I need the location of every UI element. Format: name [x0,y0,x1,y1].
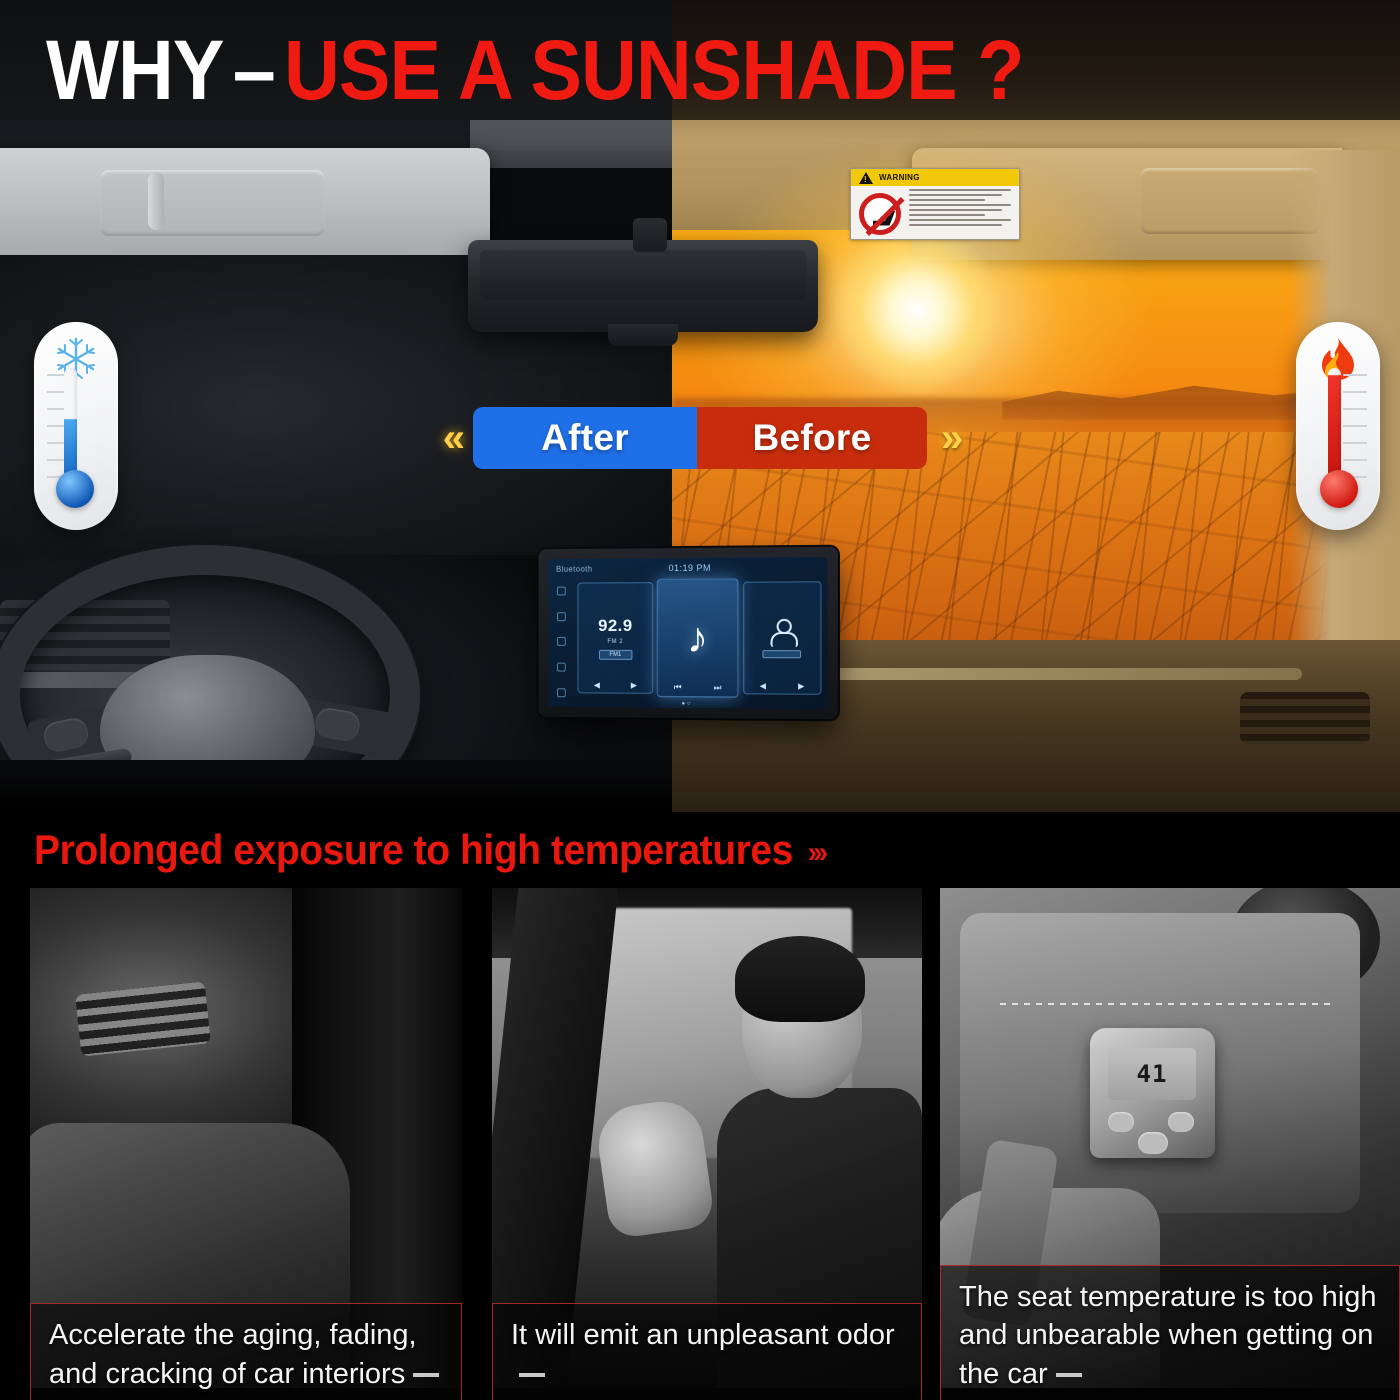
ir-thermometer-gun: 41 [1090,1028,1215,1158]
infotainment-side-rail[interactable] [548,579,573,706]
phone-next-icon[interactable]: ▶ [798,682,804,691]
cold-thermometer-bulb [56,470,94,508]
after-visor-rail [148,172,164,230]
before-dash-vent [1240,692,1370,744]
mid-headline-band: Prolonged exposure to high temperatures›… [0,812,1400,888]
panel3-seat-stitching [1000,1003,1330,1005]
bluetooth-label: Bluetooth [556,564,592,573]
caption-dash-icon [519,1373,545,1377]
panel2-hair [735,936,865,1022]
page-title: WHY–USE A SUNSHADE ? [46,28,1024,112]
sun-disc [832,225,1002,395]
child-seat-glyph [873,210,895,226]
warning-triangle-icon [859,172,873,184]
infotainment-head-unit[interactable]: Bluetooth 01:19 PM 92.9 FM 2 FM1 [539,547,838,720]
caption-dash-icon [1056,1373,1082,1377]
radio-next-icon[interactable]: ▶ [631,681,637,690]
chevron-left-icon: « [443,418,459,458]
prohibition-circle-icon [859,193,901,235]
home-icon[interactable] [557,612,566,621]
hot-thermometer-bulb [1320,470,1358,508]
title-band: WHY–USE A SUNSHADE ? [0,0,1400,140]
phone-nav-controls[interactable]: ◀ ▶ [744,681,821,690]
radio-band: FM 2 [607,639,623,645]
warning-label-text: WARNING [879,173,920,182]
ir-thermometer-button-left[interactable] [1108,1112,1134,1132]
visor-warning-label: WARNING [850,168,1020,240]
benefit-panels: 41 Accelerate the aging, fading, and cra… [0,888,1400,1400]
radio-seek-controls[interactable]: ◀ ▶ [578,680,652,689]
menu-icon[interactable] [557,688,566,697]
title-use-a-sunshade: USE A SUNSHADE ? [284,23,1024,117]
after-lower-shadow [0,760,672,812]
media-next-icon[interactable]: ⏭ [714,683,722,694]
warning-label-header: WARNING [851,169,1019,186]
infotainment-screen[interactable]: Bluetooth 01:19 PM 92.9 FM 2 FM1 [548,557,827,709]
music-note-icon: ♪ [687,617,708,659]
mid-headline: Prolonged exposure to high temperatures›… [34,826,824,874]
ir-thermometer-display: 41 [1108,1048,1196,1100]
radio-frequency: 92.9 [598,616,633,636]
caption-dash-icon [413,1373,439,1377]
infotainment-cards: 92.9 FM 2 FM1 ◀ ▶ ♪ ⏮ ⏭ [577,581,821,695]
caption-unpleasant-odor: It will emit an unpleasant odor [492,1303,922,1400]
panel1-air-vent [75,981,211,1056]
media-prev-icon[interactable]: ⏮ [674,682,682,693]
ir-thermometer-button-center[interactable] [1138,1132,1168,1154]
infographic-canvas: WARNING [0,0,1400,1400]
caption-seat-temperature: The seat temperature is too high and unb… [940,1265,1400,1400]
page-indicator-dots[interactable]: ● ○ [682,701,691,707]
warning-label-body [851,186,1019,240]
radio-card[interactable]: 92.9 FM 2 FM1 ◀ ▶ [577,582,653,694]
caption-aging-interiors: Accelerate the aging, fading, and cracki… [30,1303,462,1400]
mid-headline-text: Prolonged exposure to high temperatures [34,826,793,873]
title-separator: – [233,23,275,117]
after-sun-visor [0,148,490,258]
phone-card[interactable]: ◀ ▶ [743,581,822,695]
before-pill[interactable]: Before [697,407,927,469]
mirror-stem [633,218,667,252]
caption-temperature-text: The seat temperature is too high and unb… [959,1281,1377,1390]
media-transport-controls[interactable]: ⏮ ⏭ [658,682,738,693]
radio-preset-tag[interactable]: FM1 [599,650,632,660]
ir-thermometer-button-right[interactable] [1168,1112,1194,1132]
infotainment-status-bar: Bluetooth 01:19 PM [548,557,827,579]
power-icon[interactable] [557,587,566,596]
volume-icon[interactable] [557,637,566,646]
no-child-seat-icon [851,186,909,240]
warning-label-fineprint [909,186,1019,240]
media-card[interactable]: ♪ ⏮ ⏭ [657,578,739,697]
caption-odor-text: It will emit an unpleasant odor [511,1319,895,1351]
steering-button-left [41,716,90,754]
ir-thermometer-reading: 41 [1137,1060,1168,1088]
settings-icon[interactable] [557,663,566,672]
infotainment-clock: 01:19 PM [669,563,711,573]
rear-view-mirror [468,240,818,332]
after-pill[interactable]: After [473,407,697,469]
contact-person-icon [771,618,793,644]
caption-aging-text: Accelerate the aging, fading, and cracki… [49,1319,417,1389]
chevron-right-icon: » [941,418,957,458]
mid-chevrons-icon: ››› [808,836,825,870]
title-why: WHY [46,23,224,117]
phone-prev-icon[interactable]: ◀ [760,681,766,690]
mirror-arm [608,324,678,346]
steering-button-right [313,706,362,743]
before-after-toggle[interactable]: « After Before » [0,404,1400,472]
phone-field[interactable] [763,650,802,658]
radio-prev-icon[interactable]: ◀ [594,681,600,690]
